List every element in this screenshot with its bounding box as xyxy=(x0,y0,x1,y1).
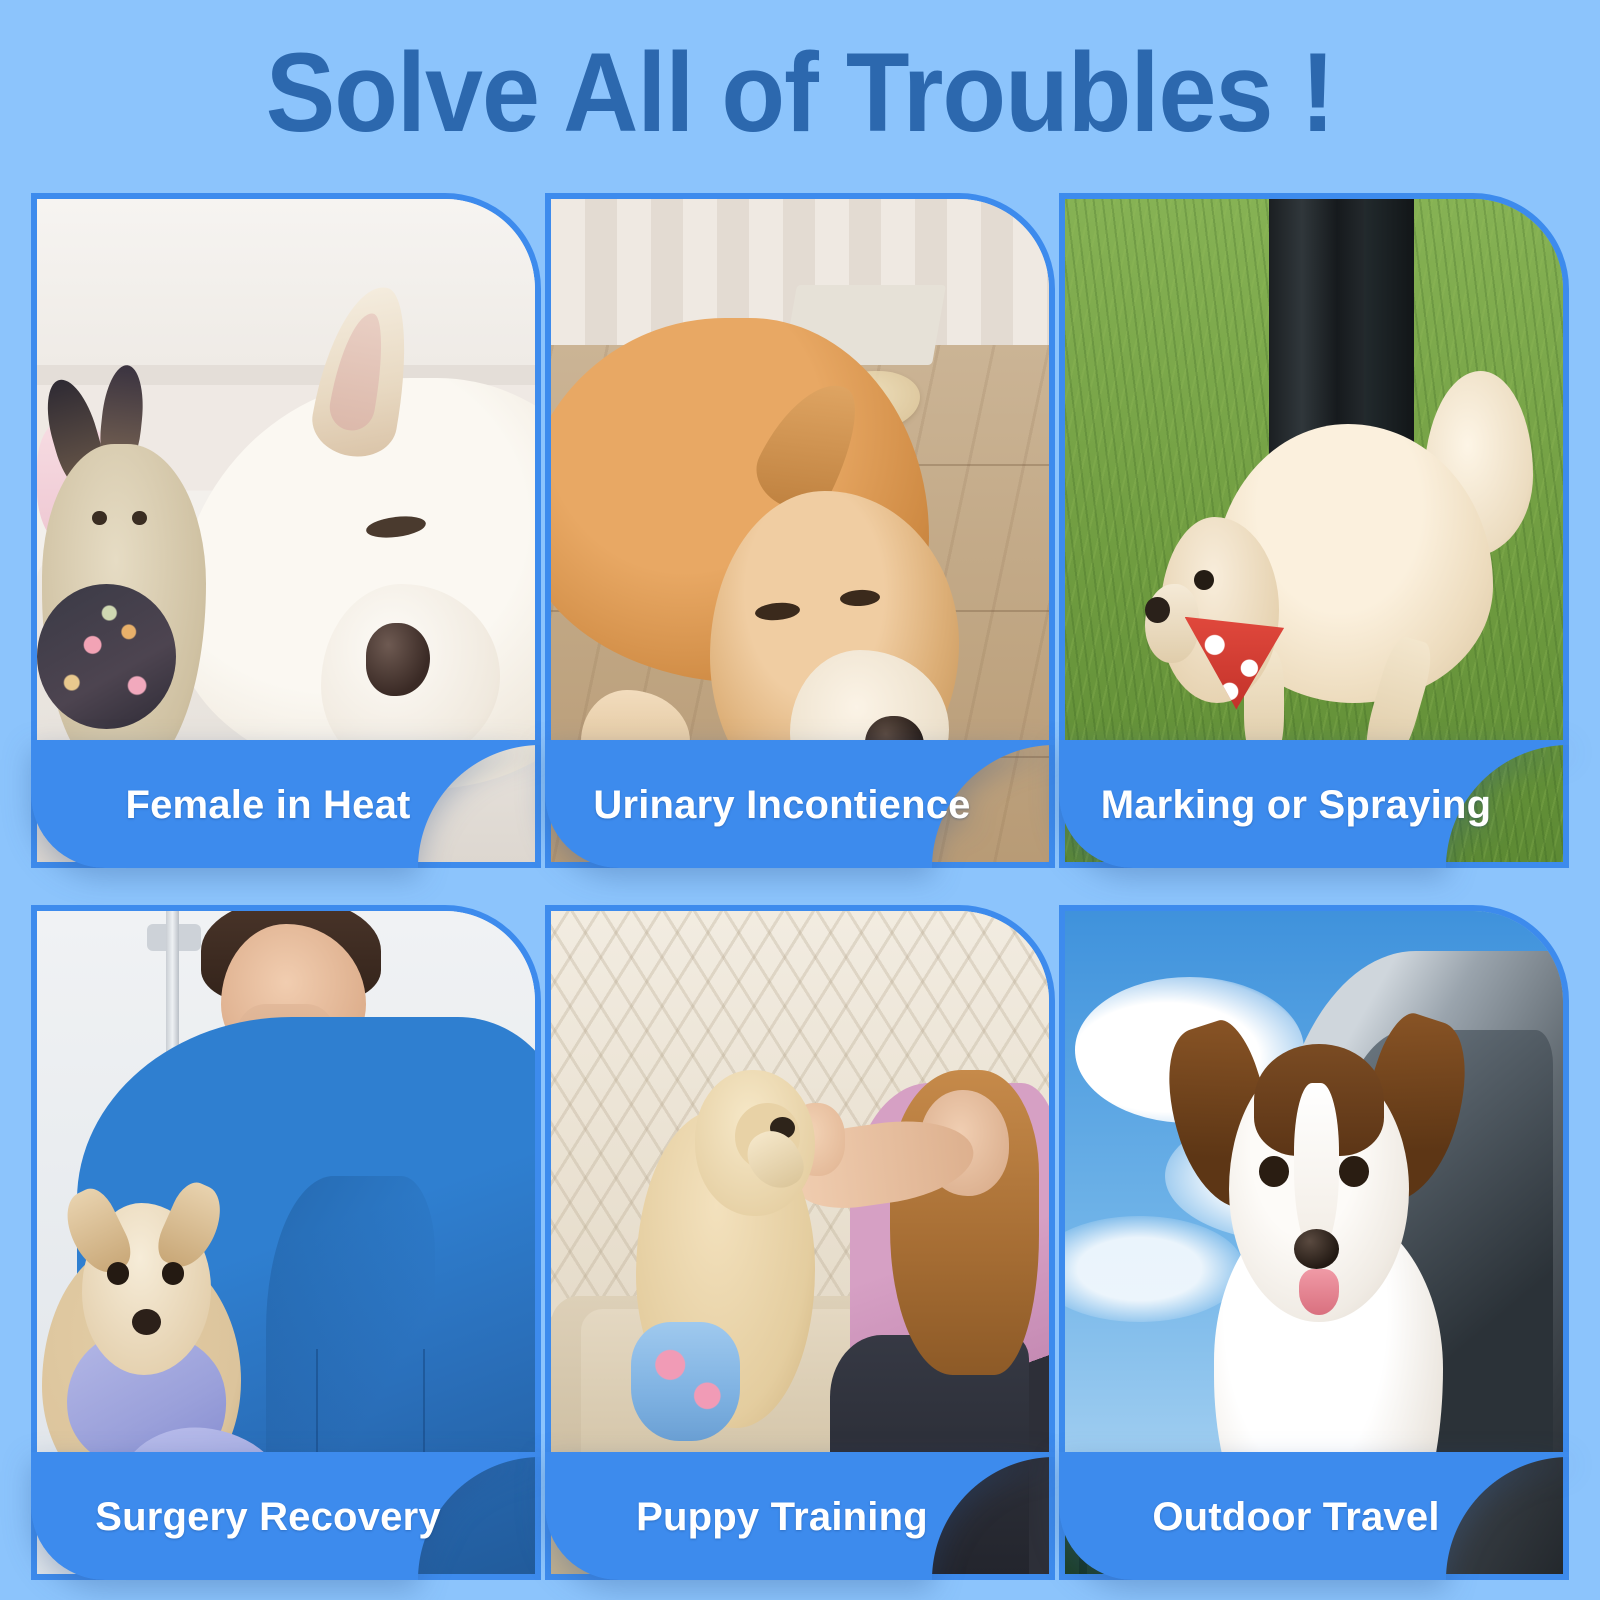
feature-card-puppy-training[interactable]: Puppy Training xyxy=(545,905,1055,1580)
card-label-banner: Marking or Spraying xyxy=(1059,740,1569,868)
feature-card-outdoor-travel[interactable]: Outdoor Travel xyxy=(1059,905,1569,1580)
card-label-banner: Puppy Training xyxy=(545,1452,1055,1580)
card-label-banner: Urinary Incontience xyxy=(545,740,1055,868)
card-label-banner: Outdoor Travel xyxy=(1059,1452,1569,1580)
page-title: Solve All of Troubles ! xyxy=(56,34,1544,152)
card-label-text: Outdoor Travel xyxy=(1059,1452,1569,1580)
card-label-banner: Surgery Recovery xyxy=(31,1452,541,1580)
feature-card-surgery-recovery[interactable]: Surgery Recovery xyxy=(31,905,541,1580)
card-label-text: Marking or Spraying xyxy=(1059,740,1569,868)
feature-card-female-in-heat[interactable]: Female in Heat xyxy=(31,193,541,868)
feature-card-grid: Female in Heat xyxy=(31,193,1569,1580)
card-label-text: Female in Heat xyxy=(31,740,541,868)
card-label-text: Urinary Incontience xyxy=(545,740,1055,868)
card-label-text: Surgery Recovery xyxy=(31,1452,541,1580)
poster-canvas: Solve All of Troubles ! xyxy=(0,0,1600,1600)
feature-card-marking-or-spraying[interactable]: Marking or Spraying xyxy=(1059,193,1569,868)
feature-card-urinary-incontience[interactable]: Urinary Incontience xyxy=(545,193,1055,868)
card-label-text: Puppy Training xyxy=(545,1452,1055,1580)
card-label-banner: Female in Heat xyxy=(31,740,541,868)
